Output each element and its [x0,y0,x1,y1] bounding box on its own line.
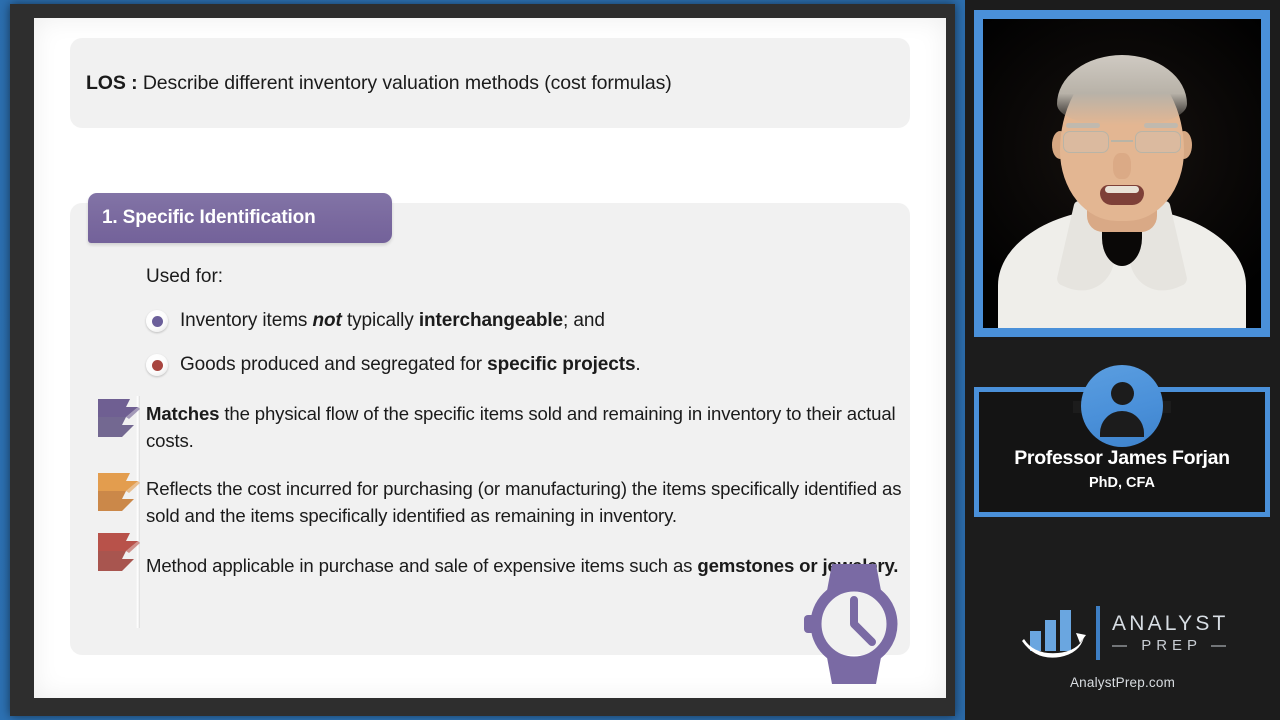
instructor-nose [1113,153,1131,179]
bullet-text: Inventory items not typically interchang… [180,310,605,332]
speaker-identity-block: Professor James Forjan PhD, CFA [974,365,1270,517]
ribbon-arrow-icon [96,530,148,574]
logo-row: ANALYST — PREP — [1014,605,1231,661]
logo-analyst-text: ANALYST [1112,612,1229,636]
person-icon [1111,382,1134,405]
glasses-bridge [1111,140,1133,142]
ribbon-arrow-icon [96,470,148,514]
logo-url-text: AnalystPrep.com [1070,675,1175,690]
list-item: Inventory items not typically interchang… [146,310,605,332]
instructor-teeth [1105,186,1139,193]
instructor-video-feed[interactable] [983,19,1261,328]
speaker-name: Professor James Forjan [974,447,1270,470]
slide-page: LOS : Describe different inventory valua… [34,18,946,698]
instructor-panel: Professor James Forjan PhD, CFA ANALYST … [965,0,1280,720]
instructor-brow-left [1066,123,1100,128]
bullet-dot-icon [146,310,168,332]
lens-right [1135,131,1181,153]
presentation-screen: LOS : Describe different inventory valua… [0,0,1280,720]
los-objective-text: LOS : Describe different inventory valua… [86,72,672,95]
bar-chart-swoosh-icon [1014,605,1096,661]
los-label: LOS : [86,72,138,94]
slide-frame: LOS : Describe different inventory valua… [10,4,955,716]
ribbon-arrow-svg [96,396,148,440]
instructor-video-frame[interactable] [974,10,1270,337]
bullet-dot-inner [152,360,163,371]
list-item: Goods produced and segregated for specif… [146,354,641,376]
used-for-label: Used for: [146,266,223,288]
logo-wordmark: ANALYST — PREP — [1112,612,1231,654]
logo-prep-text: — PREP — [1112,637,1231,654]
method-point-text: Matches the physical flow of the specifi… [146,400,926,454]
ribbon-arrow-svg [96,470,148,514]
bullet-dot-icon [146,354,168,376]
los-objective-box: LOS : Describe different inventory valua… [70,38,910,128]
lens-left [1063,131,1109,153]
method-point-text: Reflects the cost incurred for purchasin… [146,475,926,529]
bullet-text: Goods produced and segregated for specif… [180,354,641,376]
bullet-dot-inner [152,316,163,327]
los-description: Describe different inventory valuation m… [143,72,672,94]
slide-backdrop: LOS : Describe different inventory valua… [0,0,965,720]
ribbon-arrow-icon [96,396,148,440]
instructor-hair [1057,55,1187,125]
method-title-tab: 1. Specific Identification [88,193,392,243]
logo-divider [1096,606,1100,660]
analystprep-logo: ANALYST — PREP — AnalystPrep.com [965,605,1280,690]
wristwatch-svg [802,562,906,686]
speaker-credentials: PhD, CFA [974,475,1270,491]
method-title-label: 1. Specific Identification [102,207,316,229]
ribbon-arrow-svg [96,530,148,574]
wristwatch-icon [802,562,906,691]
instructor-brow-right [1144,123,1178,128]
avatar [1081,365,1163,447]
eyeglasses-icon [1063,131,1181,155]
person-icon-body [1100,411,1144,437]
